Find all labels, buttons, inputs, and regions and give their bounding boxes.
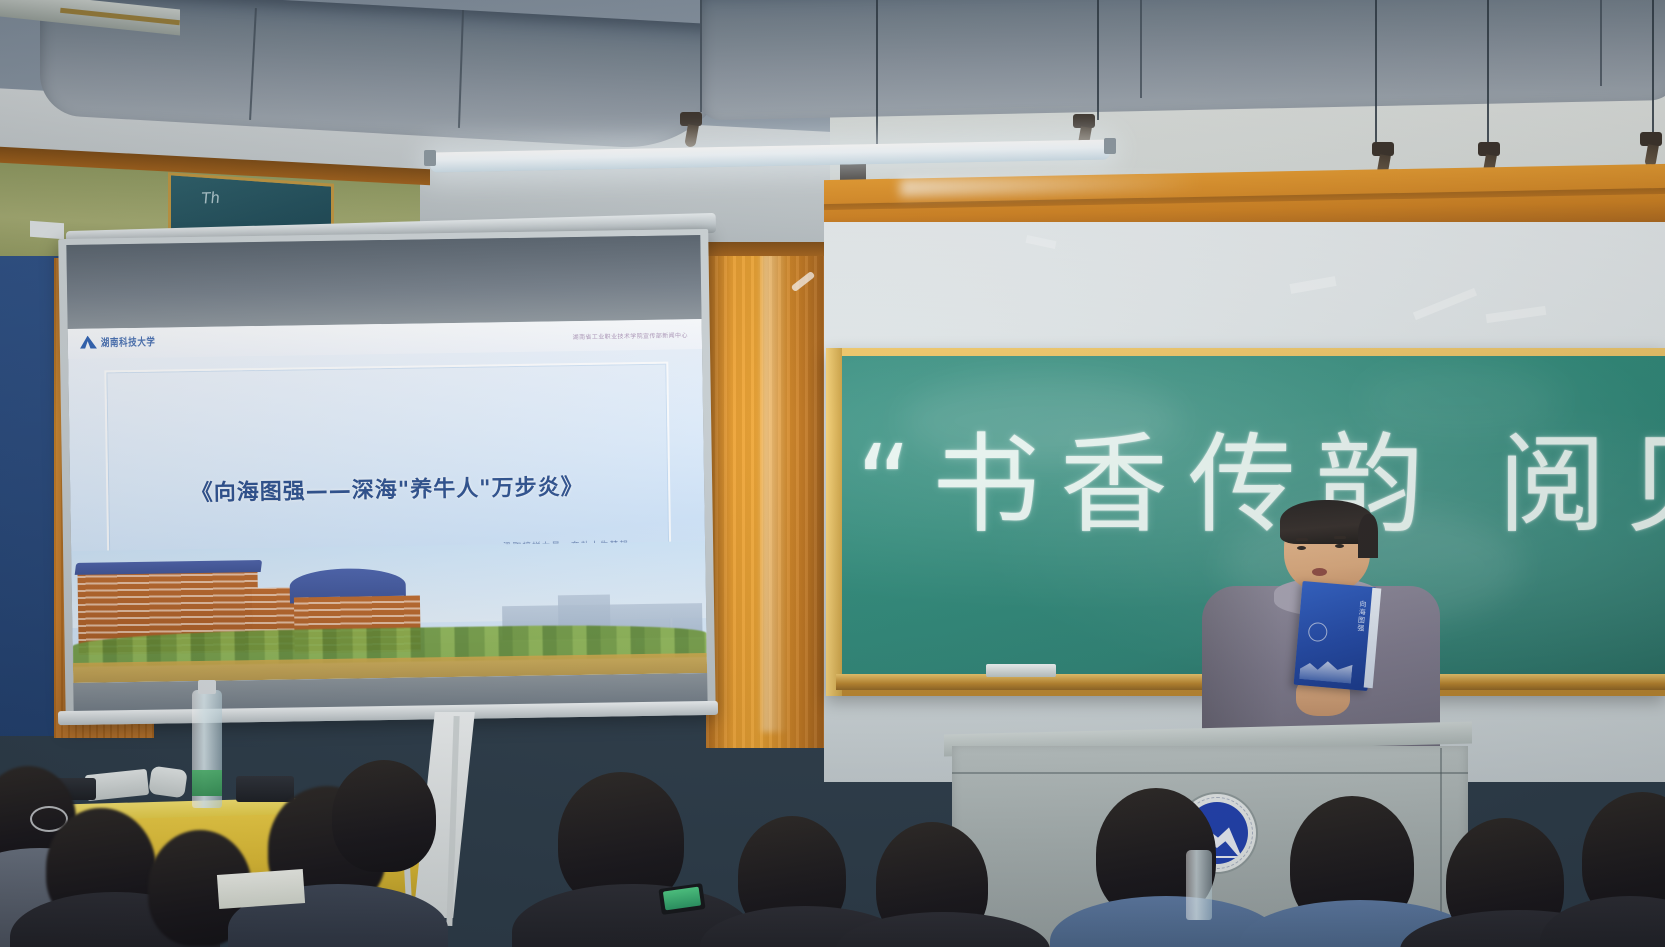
book-title-vertical: 向海图强 xyxy=(1354,600,1367,633)
wave-seal-icon xyxy=(1307,622,1328,643)
slide-campus-photo xyxy=(71,541,707,683)
left-blue-pillar xyxy=(0,256,60,736)
light-cable-5 xyxy=(1652,0,1654,140)
classroom-scene: Th “书香传韵 阅见未 湖南科技大学 xyxy=(0,0,1665,947)
tube-end-right xyxy=(1104,138,1116,154)
presenter-eye-left xyxy=(1297,546,1306,550)
column-gloss-highlight xyxy=(762,252,788,732)
audience-head-5 xyxy=(332,760,436,872)
presenter-mouth xyxy=(1312,568,1327,576)
light-cable-2 xyxy=(1097,0,1099,120)
desk-bag-2 xyxy=(236,776,294,802)
mountain-peak-icon xyxy=(80,336,97,349)
light-cable-4 xyxy=(1487,0,1489,150)
baffle-seam-5 xyxy=(1600,0,1602,86)
chalkboard-left-edge xyxy=(826,348,842,696)
light-cable-3 xyxy=(1375,0,1377,148)
podium-panel-seam-top xyxy=(952,772,1468,774)
column-top-cap xyxy=(700,242,830,256)
powerpoint-slide: 湖南科技大学 湖南省工业职业技术学院宣传部新闻中心 《向海图强——深海"养牛人"… xyxy=(68,319,707,683)
tube-end-left xyxy=(424,150,436,166)
mini-board-chalk-mark: Th xyxy=(200,190,220,209)
spot-light-2 xyxy=(1073,114,1095,128)
spot-light-1 xyxy=(680,112,702,126)
bottle-label xyxy=(192,770,222,796)
book-wave-graphic xyxy=(1299,653,1353,683)
baffle-seam-4 xyxy=(1140,0,1142,98)
presenter-hair-side xyxy=(1358,514,1378,558)
screen-unlit-top xyxy=(66,235,701,329)
desk-tissue xyxy=(148,766,188,799)
light-cable-1 xyxy=(876,0,878,150)
slide-logo-text: 湖南科技大学 xyxy=(101,334,156,350)
ceiling-baffle-right xyxy=(700,0,1665,120)
bottle-cap xyxy=(198,680,216,694)
projector-screen-surface[interactable]: 湖南科技大学 湖南省工业职业技术学院宣传部新闻中心 《向海图强——深海"养牛人"… xyxy=(66,235,707,717)
presenter-brow-left xyxy=(1296,538,1308,541)
slide-university-logo: 湖南科技大学 xyxy=(80,335,156,349)
baffle-seam-3 xyxy=(700,0,702,112)
spot-light-3 xyxy=(1372,142,1394,156)
spot-light-4 xyxy=(1478,142,1500,156)
audience-open-book xyxy=(217,869,305,909)
presenter-eye-right xyxy=(1335,544,1344,548)
slide-header-note: 湖南省工业职业技术学院宣传部新闻中心 xyxy=(573,330,688,341)
spot-light-5 xyxy=(1640,132,1662,146)
chalkboard-eraser[interactable] xyxy=(986,664,1056,677)
wall-notice-card xyxy=(30,221,64,239)
presenter-brow-right xyxy=(1334,536,1346,539)
water-bottle-right[interactable] xyxy=(1186,850,1212,920)
